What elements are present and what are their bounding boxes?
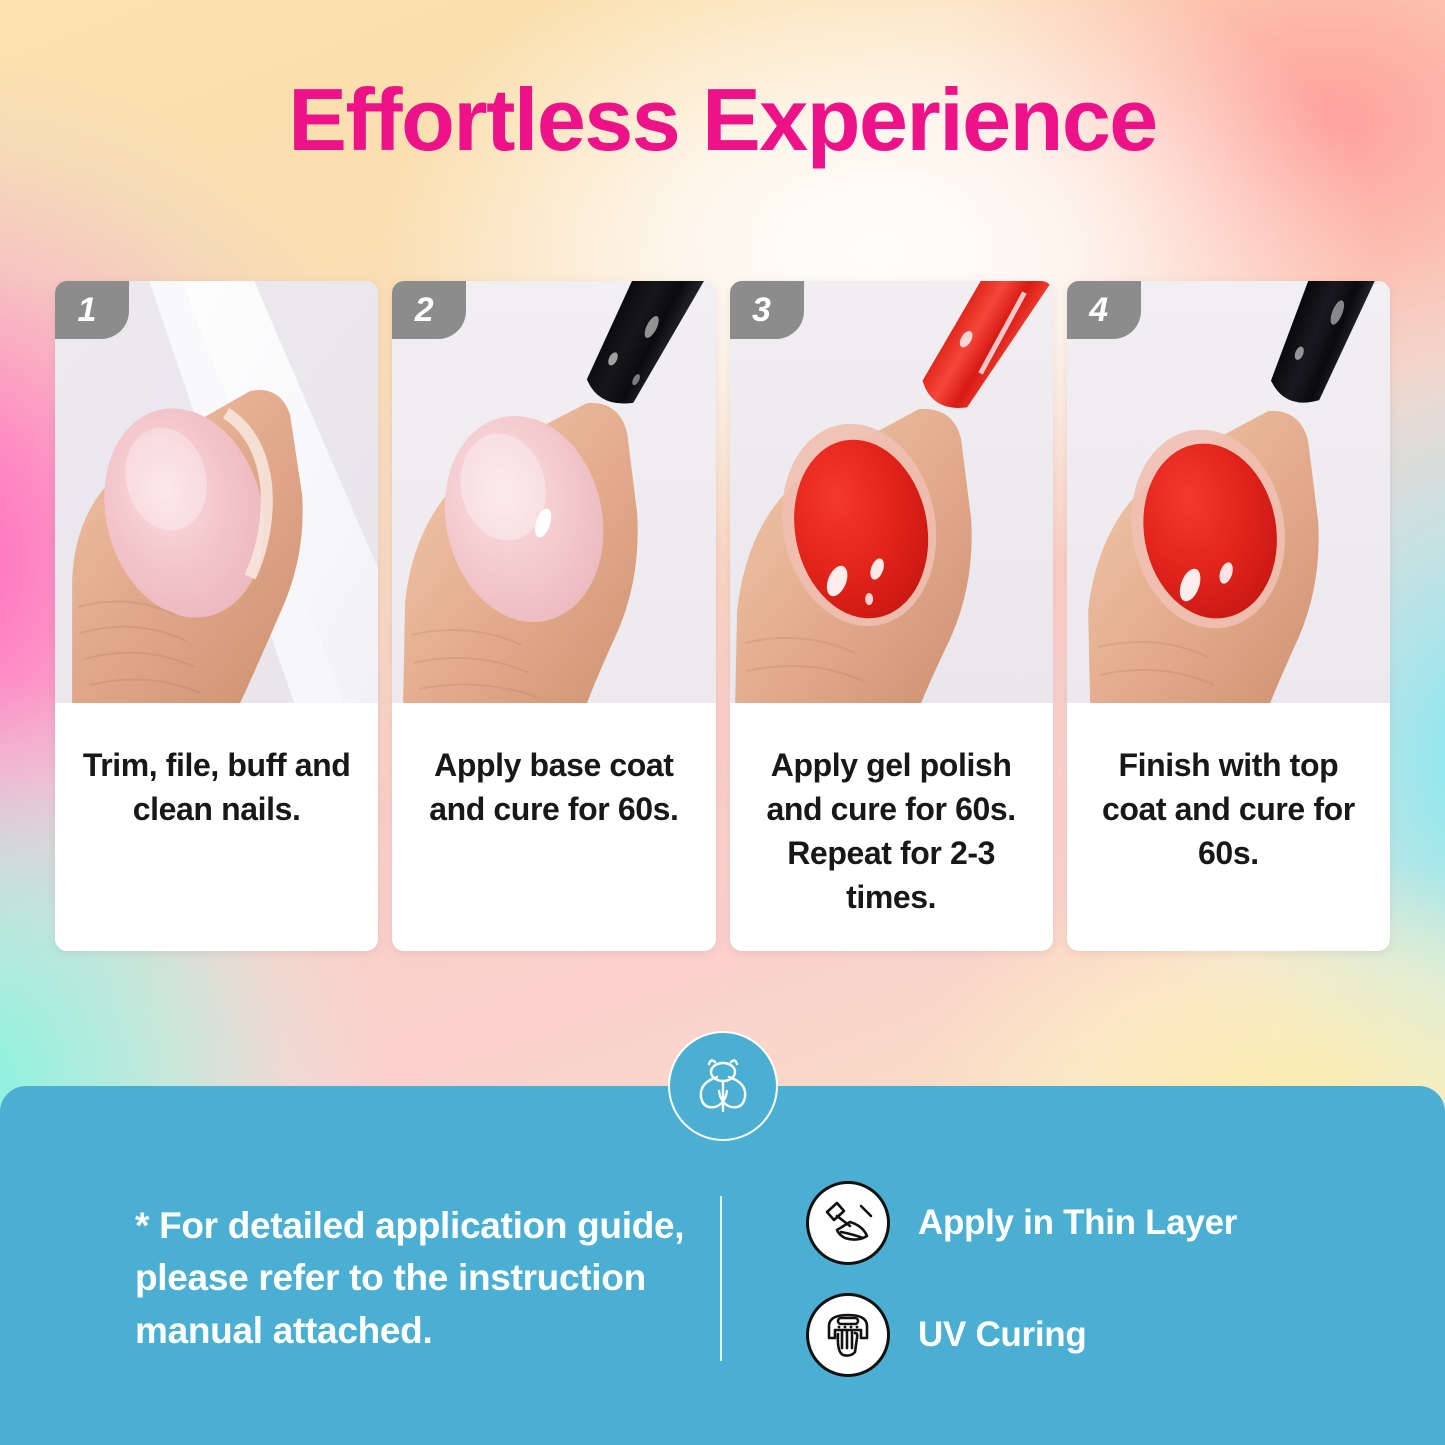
footer-features: Apply in Thin Layer <box>722 1155 1237 1377</box>
nail-brush-icon <box>806 1181 890 1265</box>
step-caption-2: Apply base coat and cure for 60s. <box>392 703 715 951</box>
step-badge-4: 4 <box>1067 281 1141 339</box>
step-photo-base-coat: 2 <box>392 281 715 703</box>
feature-uv-curing: UV Curing <box>806 1293 1237 1377</box>
step-card-4: 4 Finish with top coat and cure for 60s. <box>1067 281 1390 951</box>
step-caption-4: Finish with top coat and cure for 60s. <box>1067 703 1390 951</box>
gel-polish-illustration <box>730 281 1053 703</box>
feature-label-apply-thin-layer: Apply in Thin Layer <box>918 1203 1237 1243</box>
feature-apply-thin-layer: Apply in Thin Layer <box>806 1181 1237 1265</box>
step-photo-top-coat: 4 <box>1067 281 1390 703</box>
brand-logo-medallion <box>668 1031 778 1141</box>
step-caption-3: Apply gel polish and cure for 60s. Repea… <box>730 703 1053 951</box>
step-card-3: 3 Apply gel polish and cure for 60s. Rep… <box>730 281 1053 951</box>
nail-brush-glyph <box>817 1192 879 1254</box>
step-badge-3: 3 <box>730 281 804 339</box>
butterfly-logo-icon <box>693 1055 753 1117</box>
promo-graphic: Effortless Experience <box>0 0 1445 1445</box>
footer-note: * For detailed application guide, please… <box>0 1174 720 1358</box>
uv-lamp-icon <box>806 1293 890 1377</box>
page-title: Effortless Experience <box>0 74 1445 166</box>
steps-row: 1 Trim, file, buff and clean nails. <box>55 281 1390 951</box>
step-caption-1: Trim, file, buff and clean nails. <box>55 703 378 951</box>
step-badge-1: 1 <box>55 281 129 339</box>
step-photo-natural-nail: 1 <box>55 281 378 703</box>
top-coat-illustration <box>1067 281 1390 703</box>
step-badge-2: 2 <box>392 281 466 339</box>
step-card-1: 1 Trim, file, buff and clean nails. <box>55 281 378 951</box>
uv-lamp-glyph <box>817 1304 879 1366</box>
natural-nail-illustration <box>55 281 378 703</box>
feature-label-uv-curing: UV Curing <box>918 1315 1086 1355</box>
step-photo-gel-polish: 3 <box>730 281 1053 703</box>
step-card-2: 2 Apply base coat and cure for 60s. <box>392 281 715 951</box>
base-coat-illustration <box>392 281 715 703</box>
